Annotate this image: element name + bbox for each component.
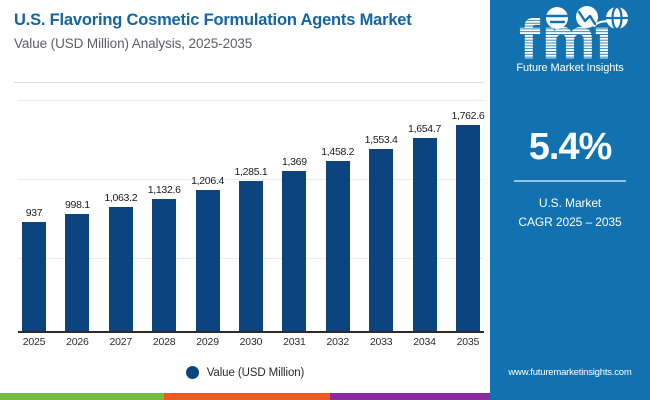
bar-value-label: 1,762.6 <box>451 110 484 122</box>
x-axis-tick: 2031 <box>278 336 310 348</box>
bar-value-label: 1,654.7 <box>408 123 441 135</box>
bar-rect[interactable] <box>413 138 437 331</box>
cagr-block: 5.4% U.S. Market CAGR 2025 – 2035 <box>490 128 650 231</box>
bar-rect[interactable] <box>109 207 133 331</box>
x-axis-tick: 2026 <box>61 336 93 348</box>
bar-rect[interactable] <box>456 125 480 331</box>
bar-item[interactable]: 1,063.2 <box>105 92 137 331</box>
fmi-logo-tagline: Future Market Insights <box>516 62 623 74</box>
bar-value-label: 1,458.2 <box>321 146 354 158</box>
x-axis-tick: 2027 <box>105 336 137 348</box>
bar-value-label: 1,553.4 <box>365 134 398 146</box>
bar-value-label: 1,369 <box>282 156 307 168</box>
x-axis-tick: 2035 <box>452 336 484 348</box>
cagr-value: 5.4% <box>490 128 650 166</box>
x-axis-tick: 2034 <box>409 336 441 348</box>
stripe-purple <box>330 393 490 400</box>
cagr-market-label: U.S. Market <box>490 194 650 213</box>
x-axis-tick: 2028 <box>148 336 180 348</box>
bar-rect[interactable] <box>152 199 176 331</box>
x-axis-tick: 2033 <box>365 336 397 348</box>
bar-item[interactable]: 1,285.1 <box>235 92 267 331</box>
bar-rect[interactable] <box>22 222 46 331</box>
bar-value-label: 1,132.6 <box>148 184 181 196</box>
x-axis-tick: 2032 <box>322 336 354 348</box>
bar-item[interactable]: 1,132.6 <box>148 92 180 331</box>
chart-subtitle: Value (USD Million) Analysis, 2025-2035 <box>14 36 482 51</box>
legend-label: Value (USD Million) <box>207 367 305 379</box>
chart-legend: Value (USD Million) <box>0 366 490 379</box>
chart-header: U.S. Flavoring Cosmetic Formulation Agen… <box>14 10 482 51</box>
infographic-root: U.S. Flavoring Cosmetic Formulation Agen… <box>0 0 650 400</box>
bar-item[interactable]: 998.1 <box>61 92 93 331</box>
bar-value-label: 937 <box>26 207 43 219</box>
bar-item[interactable]: 1,553.4 <box>365 92 397 331</box>
header-divider <box>14 82 484 83</box>
cagr-divider <box>514 180 626 182</box>
globe-marks-icon <box>545 6 629 32</box>
bar-rect[interactable] <box>239 181 263 331</box>
bar-item[interactable]: 1,206.4 <box>192 92 224 331</box>
brand-panel: Future Market Insights 5.4% U.S. Market … <box>490 0 650 400</box>
bar-rect[interactable] <box>369 149 393 331</box>
x-axis-tick: 2025 <box>18 336 50 348</box>
legend-marker-icon <box>186 366 199 379</box>
bar-value-label: 1,063.2 <box>104 192 137 204</box>
stripe-green <box>0 393 164 400</box>
bar-rect[interactable] <box>282 171 306 331</box>
x-axis-line <box>18 331 484 333</box>
website-url[interactable]: www.futuremarketinsights.com <box>490 367 650 378</box>
bar-series: 937998.11,063.21,132.61,206.41,285.11,36… <box>18 92 484 331</box>
x-axis-tick: 2030 <box>235 336 267 348</box>
fmi-logo: Future Market Insights <box>490 8 650 74</box>
x-axis-tick: 2029 <box>192 336 224 348</box>
bar-item[interactable]: 1,654.7 <box>409 92 441 331</box>
bar-item[interactable]: 1,762.6 <box>452 92 484 331</box>
x-axis-labels: 2025202620272028202920302031203220332034… <box>18 336 484 348</box>
chart-panel: U.S. Flavoring Cosmetic Formulation Agen… <box>0 0 490 400</box>
bar-rect[interactable] <box>65 214 89 331</box>
cagr-period-label: CAGR 2025 – 2035 <box>490 213 650 232</box>
bar-value-label: 1,285.1 <box>234 166 267 178</box>
bar-item[interactable]: 937 <box>18 92 50 331</box>
bar-value-label: 998.1 <box>65 199 90 211</box>
bar-item[interactable]: 1,369 <box>278 92 310 331</box>
fmi-logo-icon <box>507 8 633 60</box>
bar-item[interactable]: 1,458.2 <box>322 92 354 331</box>
page-title: U.S. Flavoring Cosmetic Formulation Agen… <box>14 10 482 31</box>
stripe-orange <box>164 393 330 400</box>
bar-value-label: 1,206.4 <box>191 175 224 187</box>
bar-rect[interactable] <box>196 190 220 331</box>
bar-rect[interactable] <box>326 161 350 331</box>
